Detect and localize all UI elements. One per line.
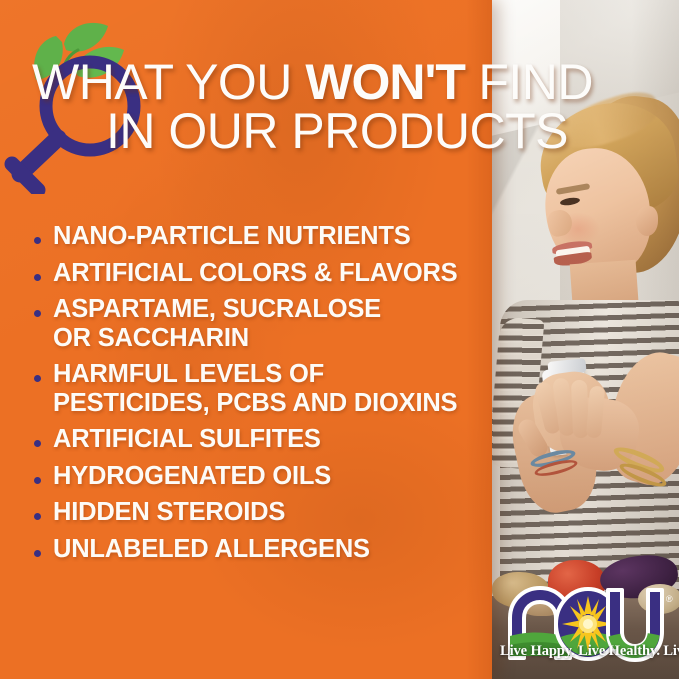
brand-tagline: Live Happy. Live Healthy. Live NOW. — [500, 643, 676, 660]
list-item-text: HARMFUL LEVELS OF PESTICIDES, PCBS AND D… — [53, 360, 457, 417]
list-item: ASPARTAME, SUCRALOSE OR SACCHARIN — [34, 295, 486, 352]
list-item-line-1: ASPARTAME, SUCRALOSE — [53, 295, 381, 323]
list-item-line-1: HARMFUL LEVELS OF — [53, 360, 324, 388]
headline-line-2: IN OUR PRODUCTS — [32, 107, 672, 156]
bullet-dot-icon — [34, 375, 41, 382]
list-item: ARTIFICIAL COLORS & FLAVORS — [34, 259, 486, 288]
headline-text-after: FIND — [465, 54, 593, 110]
bullet-dot-icon — [34, 237, 41, 244]
infographic-canvas: WHAT YOU WON'T FIND IN OUR PRODUCTS NANO… — [0, 0, 679, 679]
list-item-line-1: NANO-PARTICLE NUTRIENTS — [53, 222, 411, 250]
bullet-dot-icon — [34, 513, 41, 520]
headline-line-1: WHAT YOU WON'T FIND — [32, 58, 672, 107]
list-item-text: HYDROGENATED OILS — [53, 462, 331, 491]
list-item-line-2: OR SACCHARIN — [53, 324, 381, 353]
list-item-line-1: ARTIFICIAL COLORS & FLAVORS — [53, 259, 457, 287]
page-title: WHAT YOU WON'T FIND IN OUR PRODUCTS — [32, 58, 672, 155]
bullet-dot-icon — [34, 440, 41, 447]
list-item-line-2: PESTICIDES, PCBS AND DIOXINS — [53, 389, 457, 418]
list-item-line-1: ARTIFICIAL SULFITES — [53, 425, 321, 453]
list-item: UNLABELED ALLERGENS — [34, 535, 486, 564]
list-item-text: HIDDEN STEROIDS — [53, 498, 285, 527]
headline-text-before: WHAT YOU — [32, 54, 305, 110]
registered-trademark-icon: ® — [666, 594, 673, 604]
headline-emphasis: WON'T — [305, 54, 465, 110]
bullet-dot-icon — [34, 550, 41, 557]
bullet-dot-icon — [34, 310, 41, 317]
list-item: HYDROGENATED OILS — [34, 462, 486, 491]
list-item: HARMFUL LEVELS OF PESTICIDES, PCBS AND D… — [34, 360, 486, 417]
list-item-text: UNLABELED ALLERGENS — [53, 535, 370, 564]
list-item-line-1: UNLABELED ALLERGENS — [53, 535, 370, 563]
list-item: NANO-PARTICLE NUTRIENTS — [34, 222, 486, 251]
bullet-dot-icon — [34, 274, 41, 281]
woman-ear — [636, 206, 658, 236]
list-item: HIDDEN STEROIDS — [34, 498, 486, 527]
list-item-line-1: HYDROGENATED OILS — [53, 462, 331, 490]
exclusion-list: NANO-PARTICLE NUTRIENTS ARTIFICIAL COLOR… — [34, 222, 486, 571]
bullet-dot-icon — [34, 477, 41, 484]
list-item-text: NANO-PARTICLE NUTRIENTS — [53, 222, 411, 251]
list-item: ARTIFICIAL SULFITES — [34, 425, 486, 454]
list-item-line-1: HIDDEN STEROIDS — [53, 498, 285, 526]
list-item-text: ASPARTAME, SUCRALOSE OR SACCHARIN — [53, 295, 381, 352]
list-item-text: ARTIFICIAL SULFITES — [53, 425, 321, 454]
list-item-text: ARTIFICIAL COLORS & FLAVORS — [53, 259, 457, 288]
